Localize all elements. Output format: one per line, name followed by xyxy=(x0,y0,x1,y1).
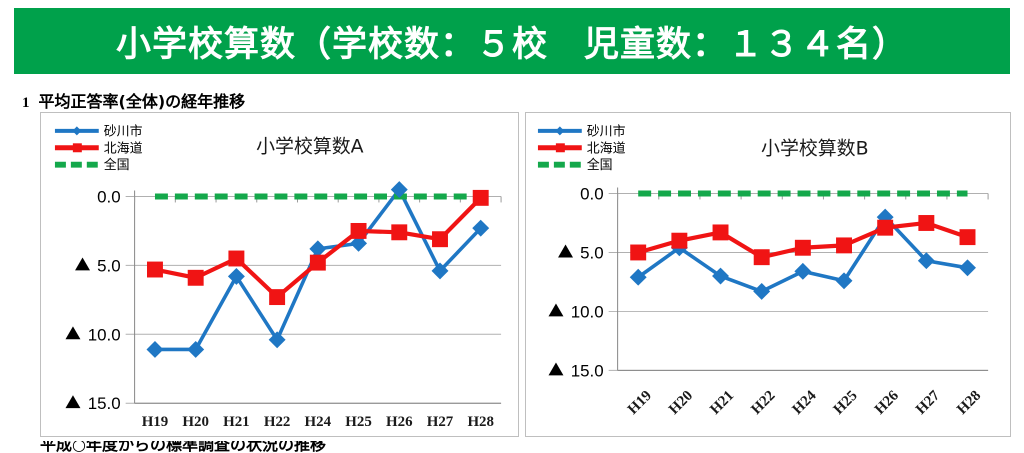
x-axis-tick-label: H26 xyxy=(872,387,902,417)
x-axis-tick-label: H25 xyxy=(345,414,372,430)
data-point-marker xyxy=(753,283,770,300)
page-header-banner: 小学校算数（学校数：５校 児童数：１３４名） xyxy=(14,8,1010,74)
line-chart-elementary-math-b: 小学校算数B0.05.010.015.0H19H20H21H22H24H25H2… xyxy=(526,113,1010,436)
y-axis-tick-label: 15.0 xyxy=(88,394,121,413)
negative-triangle-marker xyxy=(75,257,90,270)
y-axis-tick-label: 10.0 xyxy=(88,325,121,344)
data-point-marker xyxy=(795,240,811,256)
data-point-marker xyxy=(960,229,976,245)
section-number: 1 xyxy=(22,95,30,112)
negative-triangle-marker xyxy=(549,362,564,375)
y-axis-tick-label: 5.0 xyxy=(580,243,604,262)
data-point-marker xyxy=(754,249,770,265)
legend-swatch-marker xyxy=(555,126,564,135)
section-heading: 1 平均正答率(全体)の経年推移 xyxy=(22,88,245,112)
page-title: 小学校算数（学校数：５校 児童数：１３４名） xyxy=(116,16,908,67)
negative-triangle-marker xyxy=(558,245,573,258)
x-axis-tick-label: H19 xyxy=(625,388,655,418)
chart-title: 小学校算数B xyxy=(761,138,869,160)
data-point-marker xyxy=(310,255,326,271)
data-point-marker xyxy=(713,224,729,240)
legend-swatch-marker xyxy=(72,126,81,135)
data-point-marker xyxy=(959,259,976,276)
data-point-marker xyxy=(630,245,646,261)
legend-label: 北海道 xyxy=(587,141,626,156)
bottom-note-clipped: 平成○年度からの標準調査の状況の推移 xyxy=(40,441,540,453)
x-axis-tick-label: H26 xyxy=(386,414,413,430)
chart-title: 小学校算数A xyxy=(256,136,364,158)
y-axis-tick-label: 10.0 xyxy=(571,302,604,321)
legend-label: 北海道 xyxy=(104,141,143,156)
legend-label: 砂川市 xyxy=(104,123,143,139)
x-axis-tick-label: H27 xyxy=(913,387,943,417)
x-axis-tick-label: H24 xyxy=(305,414,332,430)
x-axis-tick-label: H25 xyxy=(831,388,861,418)
x-axis-tick-label: H19 xyxy=(142,414,169,430)
negative-triangle-marker xyxy=(65,326,80,339)
data-point-marker xyxy=(147,341,164,358)
x-axis-tick-label: H22 xyxy=(748,388,778,418)
negative-triangle-marker xyxy=(65,395,80,408)
data-point-marker xyxy=(187,341,204,358)
data-point-marker xyxy=(228,251,244,267)
x-axis-tick-label: H20 xyxy=(666,388,696,418)
x-axis-tick-label: H27 xyxy=(427,414,454,430)
data-point-marker xyxy=(473,190,489,206)
data-point-marker xyxy=(188,270,204,286)
data-point-marker xyxy=(391,224,407,240)
section-label: 平均正答率(全体)の経年推移 xyxy=(39,88,246,112)
x-axis-tick-label: H21 xyxy=(707,388,737,418)
data-point-marker xyxy=(836,237,852,253)
chart-panel-right[interactable]: 小学校算数B0.05.010.015.0H19H20H21H22H24H25H2… xyxy=(525,112,1011,437)
data-point-marker xyxy=(918,215,934,231)
y-axis-tick-label: 0.0 xyxy=(97,187,121,206)
data-point-marker xyxy=(432,231,448,247)
x-axis-tick-label: H21 xyxy=(223,414,250,430)
data-point-marker xyxy=(147,262,163,278)
data-point-marker xyxy=(794,263,811,280)
x-axis-tick-label: H28 xyxy=(467,414,494,430)
x-axis-tick-label: H24 xyxy=(790,387,820,417)
legend-swatch-marker xyxy=(556,143,565,152)
legend-label: 全国 xyxy=(587,157,613,173)
y-axis-tick-label: 0.0 xyxy=(580,184,604,203)
legend-swatch-marker xyxy=(73,143,82,152)
y-axis-tick-label: 15.0 xyxy=(571,361,604,380)
y-axis-tick-label: 5.0 xyxy=(97,256,121,275)
legend-label: 砂川市 xyxy=(587,123,626,139)
legend-label: 全国 xyxy=(104,157,130,173)
x-axis-tick-label: H22 xyxy=(264,414,291,430)
data-point-marker xyxy=(351,223,367,239)
data-point-marker xyxy=(877,220,893,236)
negative-triangle-marker xyxy=(549,303,564,316)
chart-panel-left[interactable]: 小学校算数A0.05.010.015.0H19H20H21H22H24H25H2… xyxy=(40,112,519,437)
x-axis-tick-label: H28 xyxy=(954,388,984,418)
x-axis-tick-label: H20 xyxy=(182,414,209,430)
line-chart-elementary-math-a: 小学校算数A0.05.010.015.0H19H20H21H22H24H25H2… xyxy=(41,113,518,436)
bottom-note-text: 平成○年度からの標準調査の状況の推移 xyxy=(40,441,540,453)
data-point-marker xyxy=(671,233,687,249)
data-point-marker xyxy=(269,289,285,305)
